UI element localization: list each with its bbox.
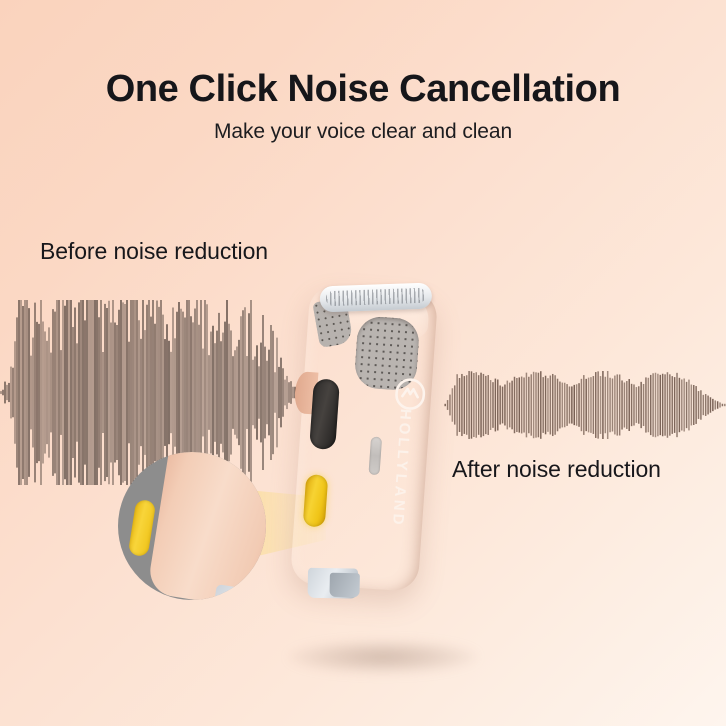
magnified-noise-cancel-button (128, 499, 157, 557)
device-bottom-clip-inner (329, 573, 359, 598)
wireless-microphone-device: HOLLYLAND (290, 284, 439, 592)
waveform-after (444, 368, 726, 442)
power-button (309, 378, 340, 450)
magnifier-callout (118, 452, 266, 600)
clip-texture (326, 288, 426, 306)
label-before-noise-reduction: Before noise reduction (40, 238, 268, 265)
noise-cancel-button (303, 474, 329, 527)
magnified-device-body (147, 452, 266, 600)
hollyland-logo-icon (392, 376, 428, 412)
product-marketing-image: One Click Noise Cancellation Make your v… (0, 0, 726, 726)
page-subheadline: Make your voice clear and clean (0, 120, 726, 144)
page-headline: One Click Noise Cancellation (0, 68, 726, 111)
label-after-noise-reduction: After noise reduction (452, 456, 661, 483)
device-top-clip (319, 283, 432, 313)
device-drop-shadow (288, 640, 478, 674)
